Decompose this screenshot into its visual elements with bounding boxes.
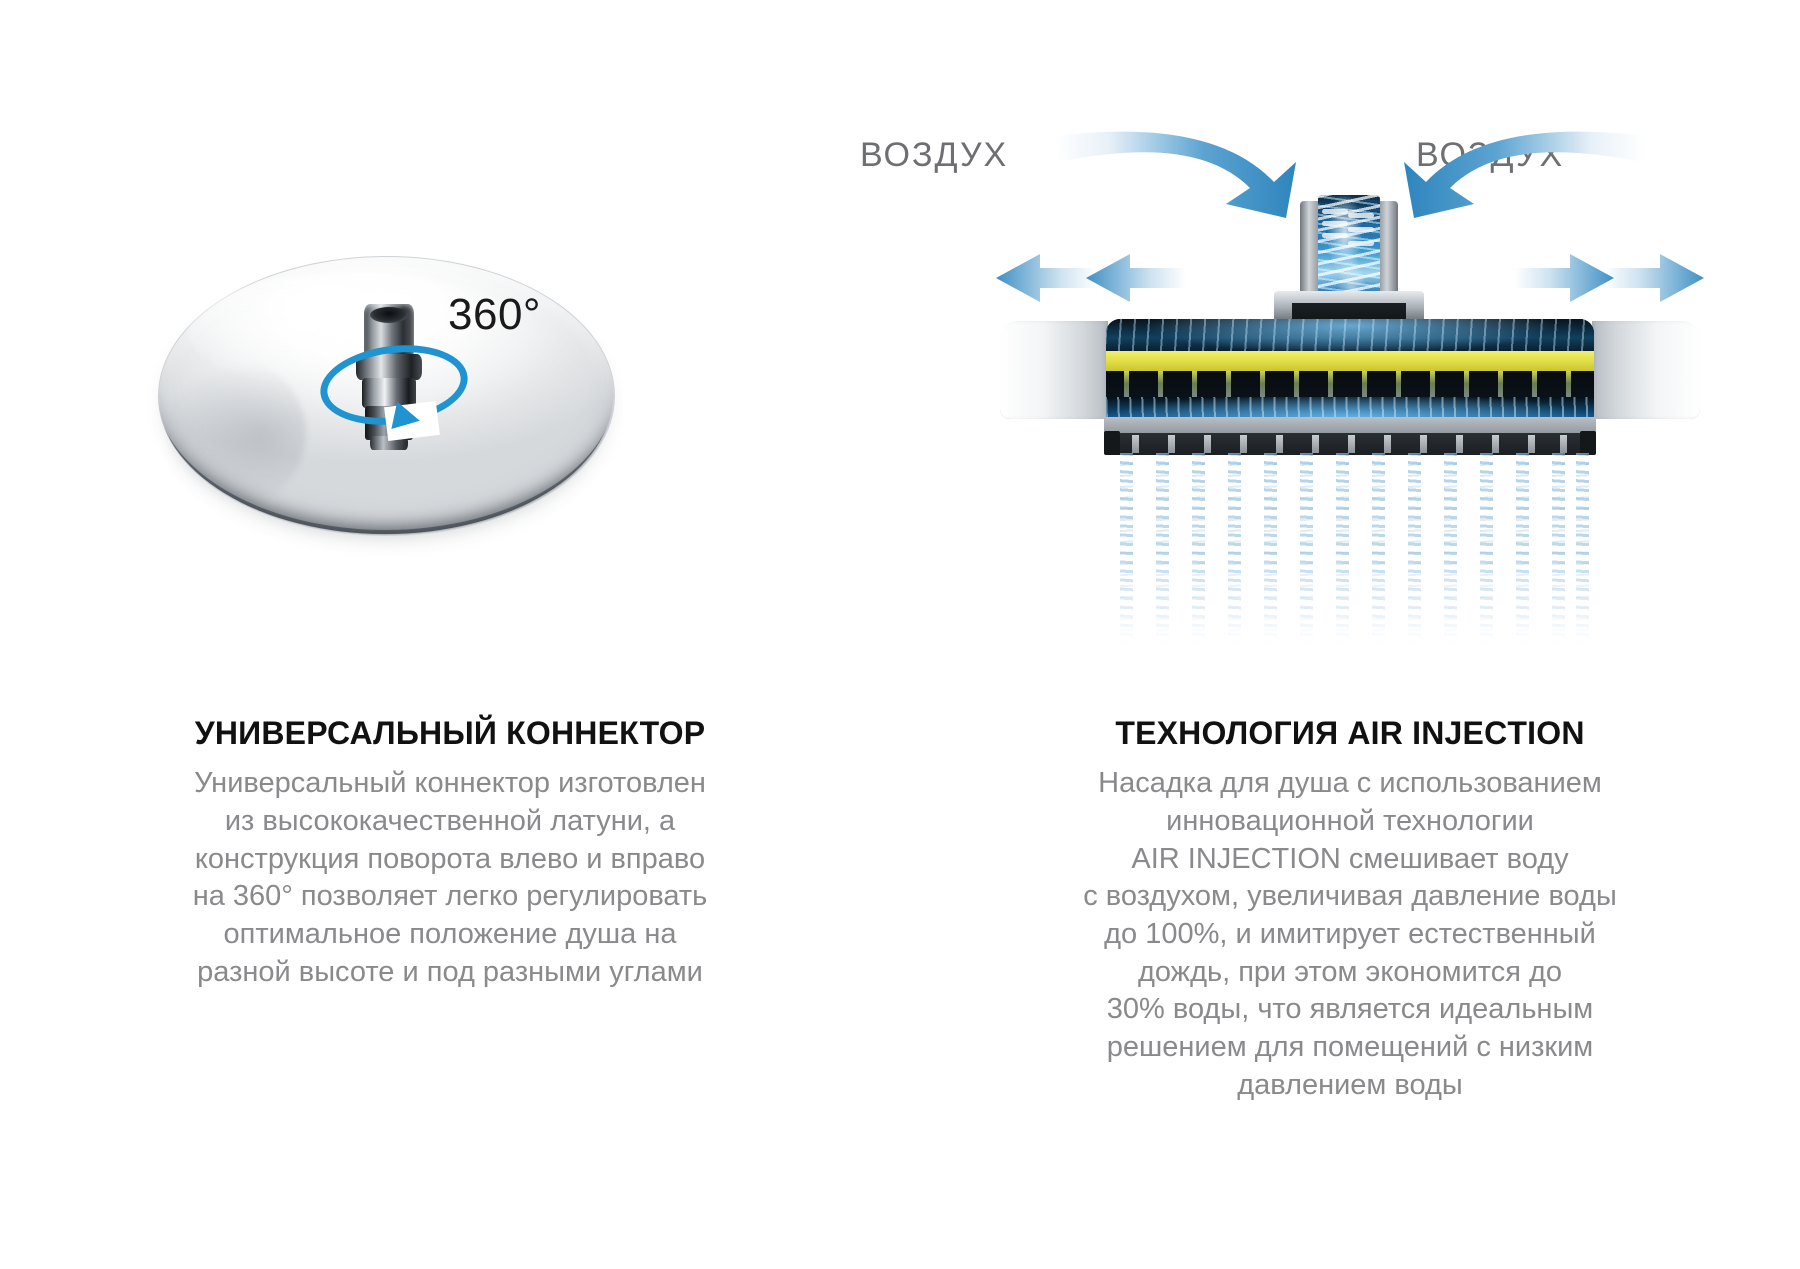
nozzle-plate-end-right — [1580, 431, 1596, 455]
head-body-left-cap — [1000, 321, 1108, 419]
left-body-line-3: конструкция поворота влево и вправо — [70, 841, 830, 879]
right-panel: ВОЗДУХ ВОЗДУХ — [900, 0, 1800, 1269]
right-body-line-6: дождь, при этом экономится до — [970, 954, 1730, 992]
right-body-line-1: Насадка для душа с использованием — [970, 765, 1730, 803]
right-body-line-7: 30% воды, что является идеальным — [970, 991, 1730, 1029]
right-body-line-8: решением для помещений с низким — [970, 1029, 1730, 1067]
head-body-right-cap — [1592, 321, 1700, 419]
left-body-line-6: разной высоте и под разными углами — [70, 954, 830, 992]
left-caption: УНИВЕРСАЛЬНЫЙ КОННЕКТОР Универсальный ко… — [70, 716, 830, 991]
left-panel-body: Универсальный коннектор изготовлен из вы… — [70, 765, 830, 991]
disc-shadow — [156, 358, 306, 508]
falling-water-spray — [1104, 453, 1596, 643]
left-body-line-1: Универсальный коннектор изготовлен — [70, 765, 830, 803]
right-body-line-5: до 100%, и имитирует естественный — [970, 916, 1730, 954]
yellow-membrane-layer — [1106, 351, 1594, 371]
right-body-line-4: с воздухом, увеличивая давление воды — [970, 878, 1730, 916]
right-body-line-9: давлением воды — [970, 1067, 1730, 1105]
rotation-degree-label: 360° — [448, 290, 541, 340]
left-panel: 360° УНИВЕРСАЛЬНЫЙ КОННЕКТОР Универсальн… — [0, 0, 900, 1269]
jet-channel-zone — [1106, 371, 1594, 399]
head-cutaway-interior — [1106, 319, 1594, 421]
connector-bore — [370, 307, 408, 323]
right-panel-body: Насадка для душа с использованием иннова… — [970, 765, 1730, 1104]
right-caption: ТЕХНОЛОГИЯ AIR INJECTION Насадка для душ… — [970, 716, 1730, 1104]
nozzle-plate-end-left — [1104, 431, 1120, 455]
left-body-line-4: на 360° позволяет легко регулировать — [70, 878, 830, 916]
infographic-page: 360° УНИВЕРСАЛЬНЫЙ КОННЕКТОР Универсальн… — [0, 0, 1800, 1269]
shower-head-cross-section — [1000, 195, 1700, 485]
left-panel-title: УНИВЕРСАЛЬНЫЙ КОННЕКТОР — [70, 716, 830, 751]
right-panel-title: ТЕХНОЛОГИЯ AIR INJECTION — [970, 716, 1730, 751]
left-body-line-2: из высококачественной латуни, а — [70, 803, 830, 841]
upper-mixing-chamber — [1106, 319, 1594, 353]
left-body-line-5: оптимальное положение душа на — [70, 916, 830, 954]
air-injection-illustration: ВОЗДУХ ВОЗДУХ — [900, 0, 1800, 680]
right-body-line-3: AIR INJECTION смешивает воду — [970, 841, 1730, 879]
right-body-line-2: инновационной технологии — [970, 803, 1730, 841]
chrome-shower-disc-illustration: 360° — [148, 228, 628, 568]
